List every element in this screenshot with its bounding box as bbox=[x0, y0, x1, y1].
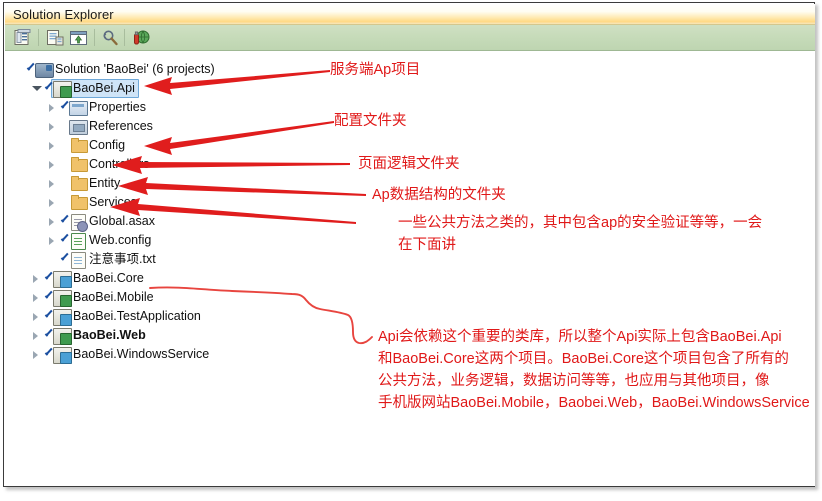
text-file-icon bbox=[71, 252, 86, 269]
tree-node-label: Web.config bbox=[89, 231, 151, 250]
source-control-check-icon bbox=[60, 215, 69, 226]
show-all-files-icon[interactable] bbox=[46, 29, 65, 47]
toolbar-separator-2 bbox=[94, 29, 95, 46]
tree-node-label: BaoBei.TestApplication bbox=[73, 307, 201, 326]
expander-closed-icon[interactable] bbox=[49, 218, 54, 226]
view-code-icon[interactable] bbox=[101, 29, 120, 47]
expander-closed-icon[interactable] bbox=[49, 123, 54, 131]
tree-node-label: Controllers bbox=[89, 155, 149, 174]
solution-explorer-window: Solution Explorer bbox=[3, 2, 815, 487]
tree-node-label: References bbox=[89, 117, 153, 136]
expander-closed-icon[interactable] bbox=[49, 180, 54, 188]
expander-closed-icon[interactable] bbox=[49, 161, 54, 169]
source-control-check-icon bbox=[44, 82, 53, 93]
csharp-project-icon bbox=[53, 309, 72, 326]
source-control-check-icon bbox=[44, 310, 53, 321]
folder-icon bbox=[71, 197, 88, 210]
tree-node-label: Global.asax bbox=[89, 212, 155, 231]
source-control-check-icon bbox=[44, 348, 53, 359]
toolbar-separator-1 bbox=[38, 29, 39, 46]
web-project-icon bbox=[53, 328, 72, 345]
source-control-check-icon bbox=[44, 272, 53, 283]
expander-closed-icon[interactable] bbox=[49, 104, 54, 112]
refresh-icon[interactable] bbox=[69, 29, 88, 47]
window-titlebar: Solution Explorer bbox=[5, 4, 815, 25]
expander-open-icon[interactable] bbox=[32, 86, 42, 91]
asax-file-icon bbox=[71, 214, 86, 231]
source-control-check-icon bbox=[26, 63, 35, 74]
tree-node-label: BaoBei.Mobile bbox=[73, 288, 154, 307]
expander-closed-icon[interactable] bbox=[49, 199, 54, 207]
toolbar-separator-3 bbox=[124, 29, 125, 46]
tree-node-label: Services bbox=[89, 193, 137, 212]
tree-node-label: BaoBei.Core bbox=[73, 269, 144, 288]
properties-icon bbox=[69, 101, 88, 116]
tree-node-label: Entity bbox=[89, 174, 120, 193]
tree-node-label: Solution 'BaoBei' (6 projects) bbox=[55, 60, 215, 79]
expander-closed-icon[interactable] bbox=[33, 313, 38, 321]
solution-icon bbox=[35, 63, 54, 78]
expander-closed-icon[interactable] bbox=[33, 275, 38, 283]
properties-window-icon[interactable] bbox=[13, 29, 32, 47]
web-project-icon bbox=[53, 290, 72, 307]
window-title: Solution Explorer bbox=[13, 7, 114, 22]
config-file-icon bbox=[71, 233, 86, 250]
expander-closed-icon[interactable] bbox=[49, 142, 54, 150]
source-control-check-icon bbox=[60, 253, 69, 264]
expander-closed-icon[interactable] bbox=[49, 237, 54, 245]
tree-node-label: BaoBei.Api bbox=[73, 79, 135, 98]
source-control-check-icon bbox=[44, 329, 53, 340]
tree-node-label: BaoBei.Web bbox=[73, 326, 146, 345]
tree-node-label: Properties bbox=[89, 98, 146, 117]
solution-tree[interactable]: Solution 'BaoBei' (6 projects) BaoBei.Ap… bbox=[5, 51, 815, 486]
source-control-check-icon bbox=[44, 291, 53, 302]
expander-closed-icon[interactable] bbox=[33, 332, 38, 340]
source-control-check-icon bbox=[60, 234, 69, 245]
web-project-icon bbox=[53, 81, 72, 98]
source-control-check-icon bbox=[60, 101, 69, 112]
expander-closed-icon[interactable] bbox=[33, 351, 38, 359]
expander-closed-icon[interactable] bbox=[33, 294, 38, 302]
view-in-browser-icon[interactable] bbox=[132, 29, 151, 47]
solution-explorer-toolbar bbox=[5, 25, 815, 51]
folder-icon bbox=[71, 178, 88, 191]
folder-icon bbox=[71, 140, 88, 153]
csharp-project-icon bbox=[53, 271, 72, 288]
folder-icon bbox=[71, 159, 88, 172]
tree-node-label: BaoBei.WindowsService bbox=[73, 345, 209, 364]
tree-node-label: 注意事项.txt bbox=[89, 250, 156, 269]
references-icon bbox=[69, 120, 88, 135]
tree-node-label: Config bbox=[89, 136, 125, 155]
screenshot-root: Solution Explorer bbox=[0, 0, 822, 496]
csharp-project-icon bbox=[53, 347, 72, 364]
